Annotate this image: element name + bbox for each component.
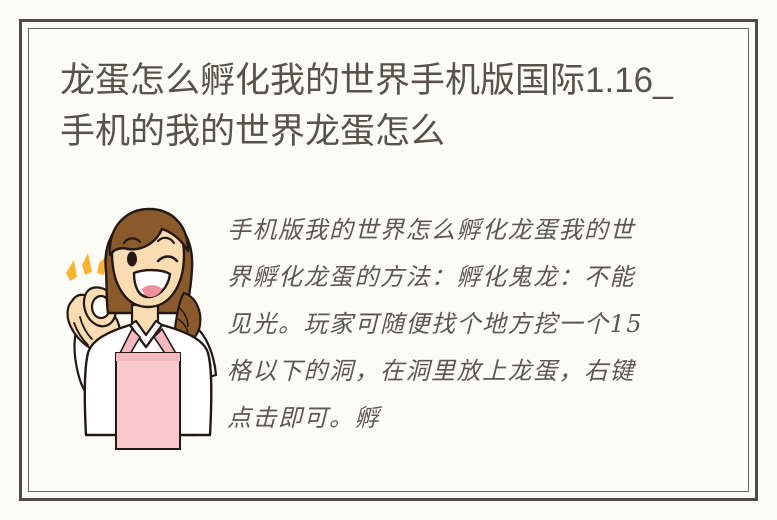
- page-frame-outer: 龙蛋怎么孵化我的世界手机版国际1.16_手机的我的世界龙蛋怎么: [19, 19, 758, 501]
- page-content: 龙蛋怎么孵化我的世界手机版国际1.16_手机的我的世界龙蛋怎么: [22, 22, 755, 498]
- article-paragraph: 手机版我的世界怎么孵化龙蛋我的世界孵化龙蛋的方法：孵化鬼龙：不能见光。玩家可随便…: [227, 207, 647, 442]
- illustration-winking-woman-ok-gesture: [44, 197, 236, 459]
- page-title: 龙蛋怎么孵化我的世界手机版国际1.16_手机的我的世界龙蛋怎么: [60, 55, 700, 157]
- sparkle-icon: [66, 253, 107, 281]
- article-body: 手机版我的世界怎么孵化龙蛋我的世界孵化龙蛋的方法：孵化鬼龙：不能见光。玩家可随便…: [227, 207, 647, 442]
- article-page: 龙蛋怎么孵化我的世界手机版国际1.16_手机的我的世界龙蛋怎么: [0, 0, 777, 520]
